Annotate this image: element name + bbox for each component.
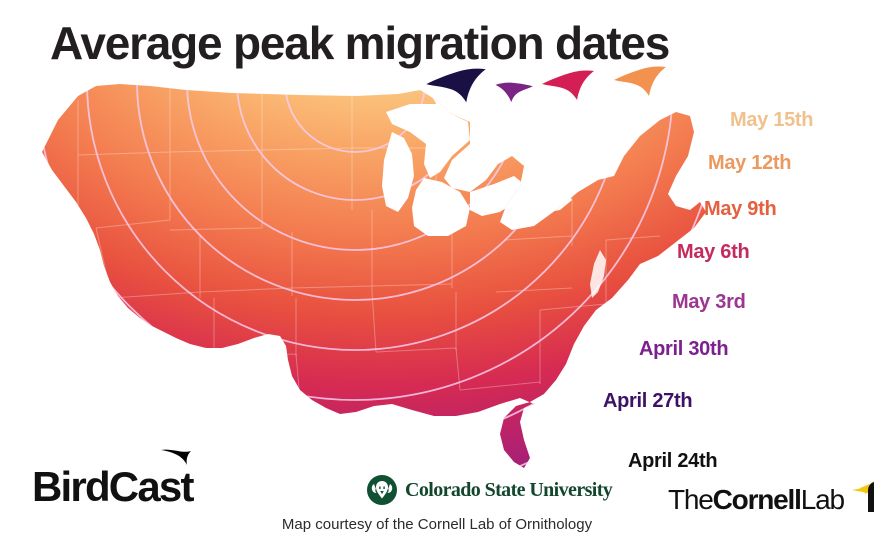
- date-label-2: May 9th: [704, 198, 776, 221]
- date-label-4: May 3rd: [672, 291, 746, 314]
- cornell-lab: Lab: [801, 484, 844, 515]
- csu-wordmark: Colorado State University: [405, 479, 612, 502]
- birdcast-logo[interactable]: BirdCast: [32, 466, 193, 508]
- bird-silhouette-4: [612, 66, 668, 100]
- csu-ram-icon: [366, 474, 398, 506]
- date-label-7: April 24th: [628, 450, 717, 473]
- birdcast-bird-icon: [160, 448, 194, 470]
- cornell-the: The: [668, 484, 713, 515]
- date-label-6: April 27th: [603, 390, 692, 413]
- date-label-5: April 30th: [639, 338, 728, 361]
- cornell-lab-logo[interactable]: TheCornellLab: [668, 476, 874, 514]
- birdcast-wordmark: BirdCast: [32, 466, 193, 508]
- cornell-cornell: Cornell: [713, 484, 801, 515]
- cornell-woodpecker-icon: [846, 476, 874, 514]
- bird-silhouette-1: [424, 68, 488, 107]
- date-label-0: May 15th: [730, 109, 813, 132]
- cornell-wordmark: TheCornellLab: [668, 486, 844, 514]
- colorado-state-logo[interactable]: Colorado State University: [366, 474, 612, 506]
- date-label-3: May 6th: [677, 241, 749, 264]
- date-label-1: May 12th: [708, 152, 791, 175]
- bird-silhouette-3: [540, 70, 596, 104]
- infographic-root: Average peak migration dates: [0, 0, 874, 551]
- map-caption: Map courtesy of the Cornell Lab of Ornit…: [0, 516, 874, 533]
